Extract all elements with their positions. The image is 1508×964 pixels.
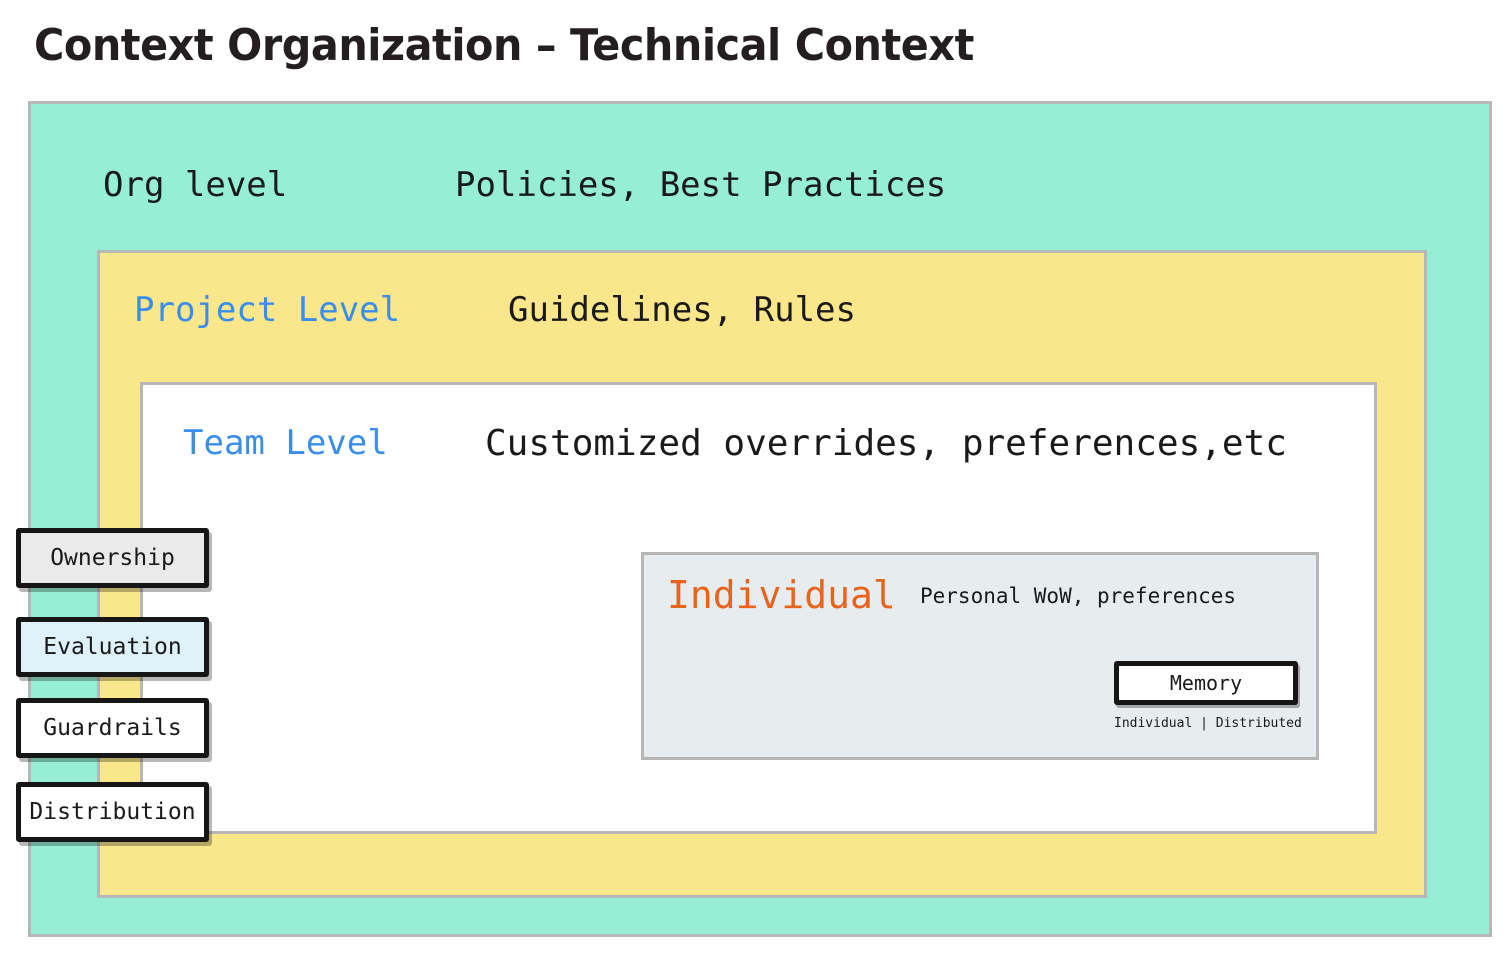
memory-card-caption: Individual | Distributed xyxy=(1114,716,1298,731)
individual-level-description: Personal WoW, preferences xyxy=(920,584,1236,608)
team-level-description: Customized overrides, preferences,etc xyxy=(485,423,1287,464)
memory-card-label: Memory xyxy=(1170,671,1242,695)
side-tag-guardrails[interactable]: Guardrails xyxy=(16,698,209,758)
page-title: Context Organization – Technical Context xyxy=(34,20,974,71)
side-tag-ownership-label: Ownership xyxy=(50,545,175,571)
side-tag-evaluation[interactable]: Evaluation xyxy=(16,617,209,677)
org-level-label: Org level xyxy=(103,165,287,205)
project-level-label: Project Level xyxy=(134,290,400,330)
side-tag-distribution[interactable]: Distribution xyxy=(16,782,209,842)
side-tag-ownership[interactable]: Ownership xyxy=(16,528,209,588)
side-tag-guardrails-label: Guardrails xyxy=(43,715,181,741)
side-tag-distribution-label: Distribution xyxy=(29,799,195,825)
org-level-description: Policies, Best Practices xyxy=(455,165,946,205)
team-level-label: Team Level xyxy=(183,423,388,463)
memory-card[interactable]: Memory xyxy=(1114,661,1298,705)
project-level-description: Guidelines, Rules xyxy=(508,290,856,330)
side-tag-evaluation-label: Evaluation xyxy=(43,634,181,660)
individual-level-label: Individual xyxy=(667,573,896,617)
